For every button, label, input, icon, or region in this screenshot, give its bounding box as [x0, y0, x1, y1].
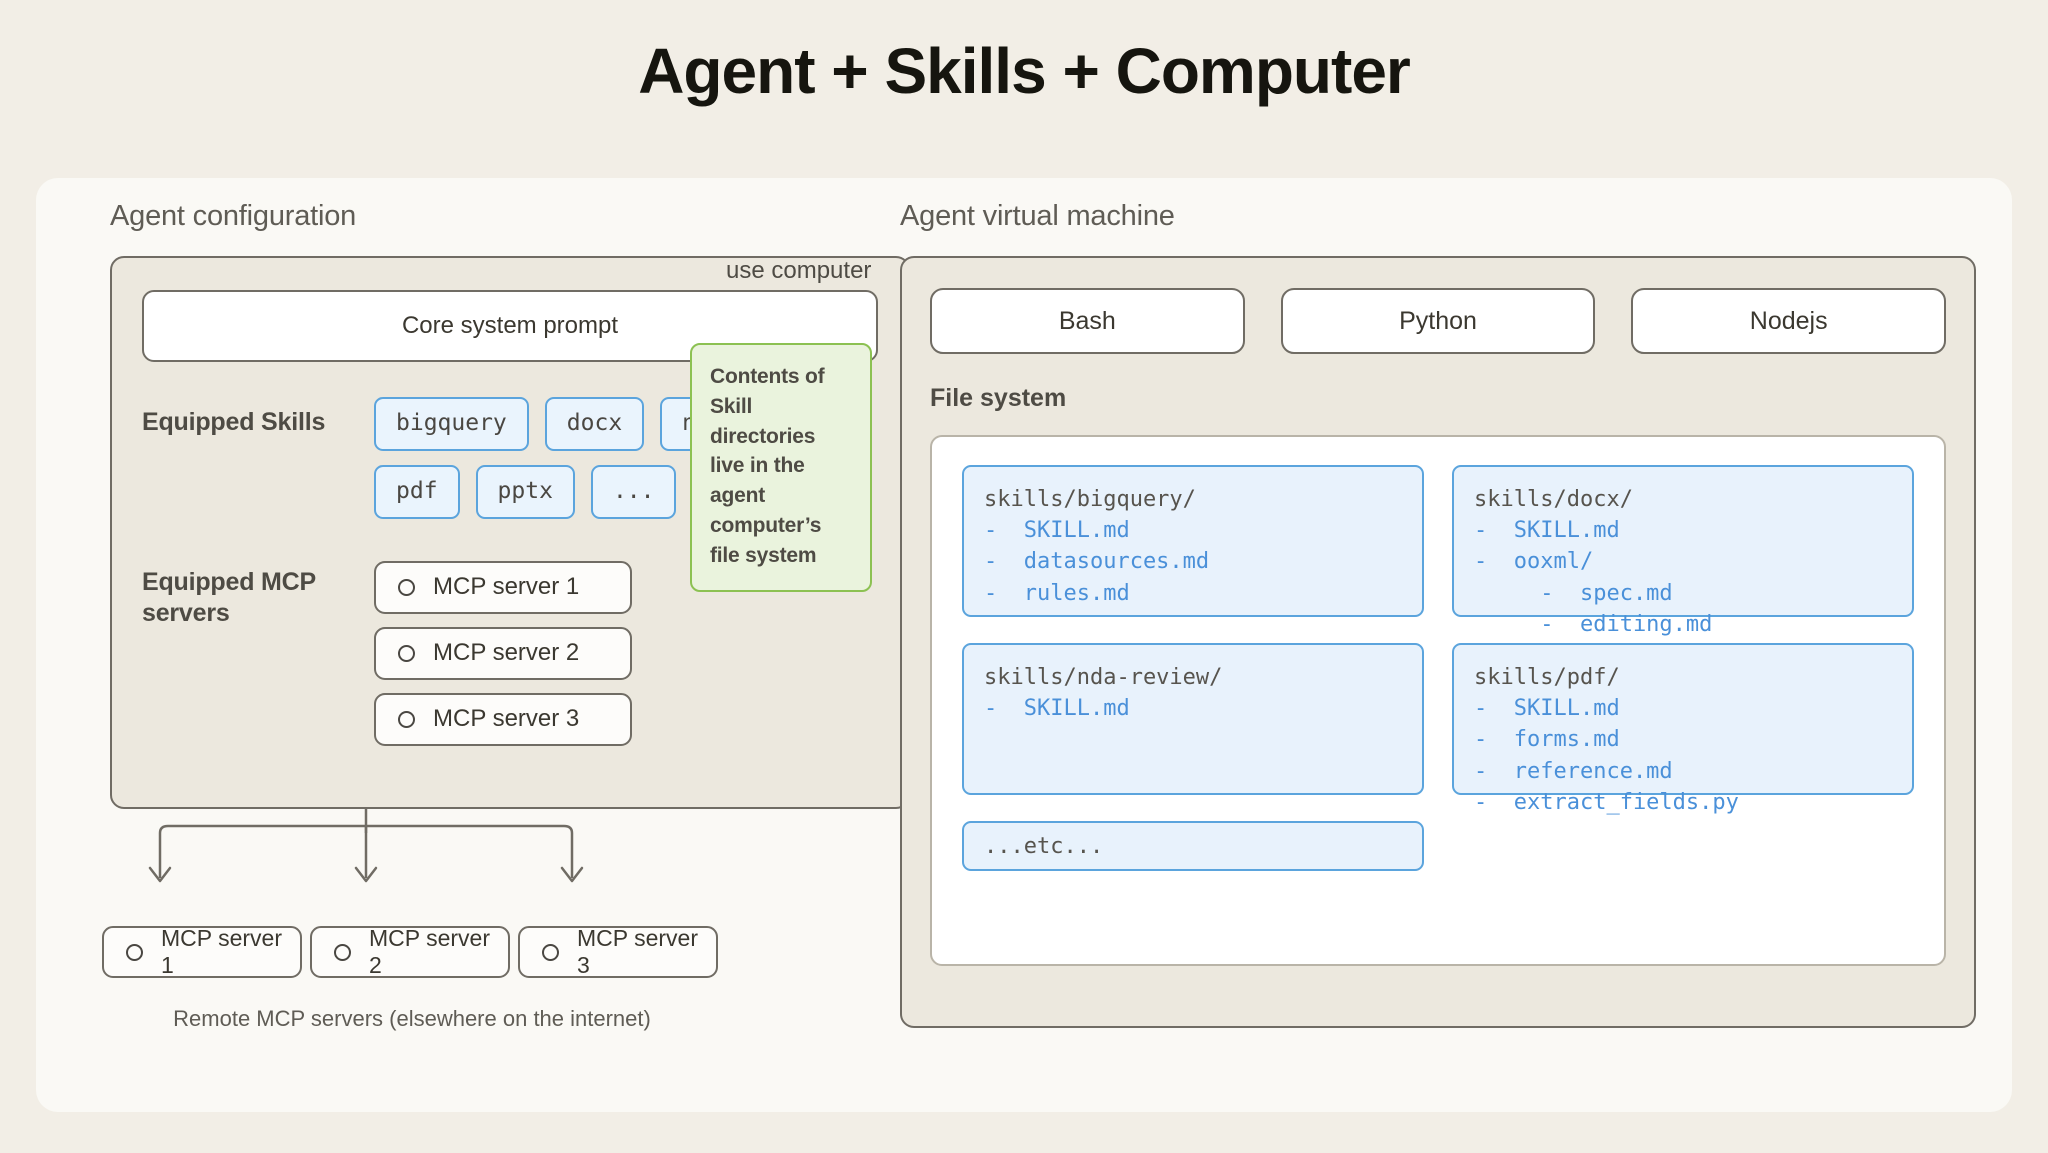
skill-file-entry: - SKILL.md — [1474, 693, 1892, 724]
equipped-mcp-label: Equipped MCP servers — [142, 561, 374, 746]
skill-directory-card-docx[interactable]: skills/docx/ - SKILL.md - ooxml/ - spec.… — [1452, 465, 1914, 617]
skill-directory-card-etc[interactable]: ...etc... — [962, 821, 1424, 871]
file-system-box: skills/bigquery/ - SKILL.md - datasource… — [930, 435, 1946, 966]
skill-chip-pdf[interactable]: pdf — [374, 465, 460, 519]
skill-directories-callout: Contents of Skill directories live in th… — [690, 343, 872, 592]
use-computer-label: use computer — [726, 257, 871, 285]
skill-directory-path: skills/nda-review/ — [984, 662, 1402, 693]
skill-directory-path: skills/docx/ — [1474, 484, 1892, 515]
skill-file-entry: - rules.md — [984, 578, 1402, 609]
skill-chip-docx[interactable]: docx — [545, 397, 644, 451]
skill-file-entry: - datasources.md — [984, 546, 1402, 577]
skill-file-entry: - SKILL.md — [1474, 515, 1892, 546]
skill-chip-more[interactable]: ... — [591, 465, 677, 519]
agent-virtual-machine-heading: Agent virtual machine — [900, 200, 1984, 233]
skill-chip-pptx[interactable]: pptx — [476, 465, 575, 519]
skill-file-entry: - extract_fields.py — [1474, 787, 1892, 818]
runtime-label-bash: Bash — [1059, 307, 1116, 336]
mcp-server-item-1[interactable]: MCP server 1 — [374, 561, 632, 614]
skill-directory-path: skills/bigquery/ — [984, 484, 1402, 515]
skill-directory-card-nda-review[interactable]: skills/nda-review/ - SKILL.md — [962, 643, 1424, 795]
mcp-server-label-1: MCP server 1 — [433, 573, 579, 601]
circle-icon — [126, 944, 143, 961]
remote-mcp-server-2[interactable]: MCP server 2 — [310, 926, 510, 978]
mcp-server-item-3[interactable]: MCP server 3 — [374, 693, 632, 746]
core-system-prompt-label: Core system prompt — [402, 312, 618, 340]
skill-file-entry: - SKILL.md — [984, 515, 1402, 546]
skill-directory-path: skills/pdf/ — [1474, 662, 1892, 693]
mcp-server-label-2: MCP server 2 — [433, 639, 579, 667]
file-system-label: File system — [930, 384, 1946, 413]
agent-virtual-machine-box: Bash Python Nodejs File system skills/bi… — [900, 256, 1976, 1028]
skill-directory-card-bigquery[interactable]: skills/bigquery/ - SKILL.md - datasource… — [962, 465, 1424, 617]
page-title: Agent + Skills + Computer — [0, 0, 2048, 105]
skill-file-entry: - spec.md — [1474, 578, 1892, 609]
circle-icon — [334, 944, 351, 961]
equipped-skills-label: Equipped Skills — [142, 397, 374, 519]
mcp-server-item-2[interactable]: MCP server 2 — [374, 627, 632, 680]
etc-label: ...etc... — [984, 834, 1103, 859]
remote-mcp-server-1[interactable]: MCP server 1 — [102, 926, 302, 978]
circle-icon — [398, 645, 415, 662]
agent-virtual-machine-panel: Agent virtual machine Bash Python Nodejs… — [894, 200, 1984, 1028]
runtime-button-bash[interactable]: Bash — [930, 288, 1245, 354]
remote-mcp-label-3: MCP server 3 — [577, 925, 716, 979]
runtime-buttons-row: Bash Python Nodejs — [930, 288, 1946, 354]
remote-mcp-label-1: MCP server 1 — [161, 925, 300, 979]
skill-file-entry: - SKILL.md — [984, 693, 1402, 724]
skill-directory-card-pdf[interactable]: skills/pdf/ - SKILL.md - forms.md - refe… — [1452, 643, 1914, 795]
skill-chip-bigquery[interactable]: bigquery — [374, 397, 529, 451]
skill-file-entry: - forms.md — [1474, 724, 1892, 755]
skill-file-entry: - editing.md — [1474, 609, 1892, 640]
remote-mcp-server-3[interactable]: MCP server 3 — [518, 926, 718, 978]
runtime-label-python: Python — [1399, 307, 1477, 336]
skill-file-entry: - reference.md — [1474, 756, 1892, 787]
skill-file-entry: - ooxml/ — [1474, 546, 1892, 577]
runtime-label-nodejs: Nodejs — [1750, 307, 1828, 336]
remote-mcp-servers-row: MCP server 1 MCP server 2 MCP server 3 — [102, 926, 718, 978]
runtime-button-nodejs[interactable]: Nodejs — [1631, 288, 1946, 354]
remote-mcp-caption: Remote MCP servers (elsewhere on the int… — [102, 1006, 722, 1032]
diagram-stage: Agent configuration Core system prompt E… — [36, 178, 2012, 1112]
skill-directory-grid: skills/bigquery/ - SKILL.md - datasource… — [962, 465, 1914, 795]
mcp-server-label-3: MCP server 3 — [433, 705, 579, 733]
runtime-button-python[interactable]: Python — [1281, 288, 1596, 354]
circle-icon — [398, 579, 415, 596]
circle-icon — [542, 944, 559, 961]
circle-icon — [398, 711, 415, 728]
remote-mcp-label-2: MCP server 2 — [369, 925, 508, 979]
agent-configuration-heading: Agent configuration — [110, 200, 914, 233]
